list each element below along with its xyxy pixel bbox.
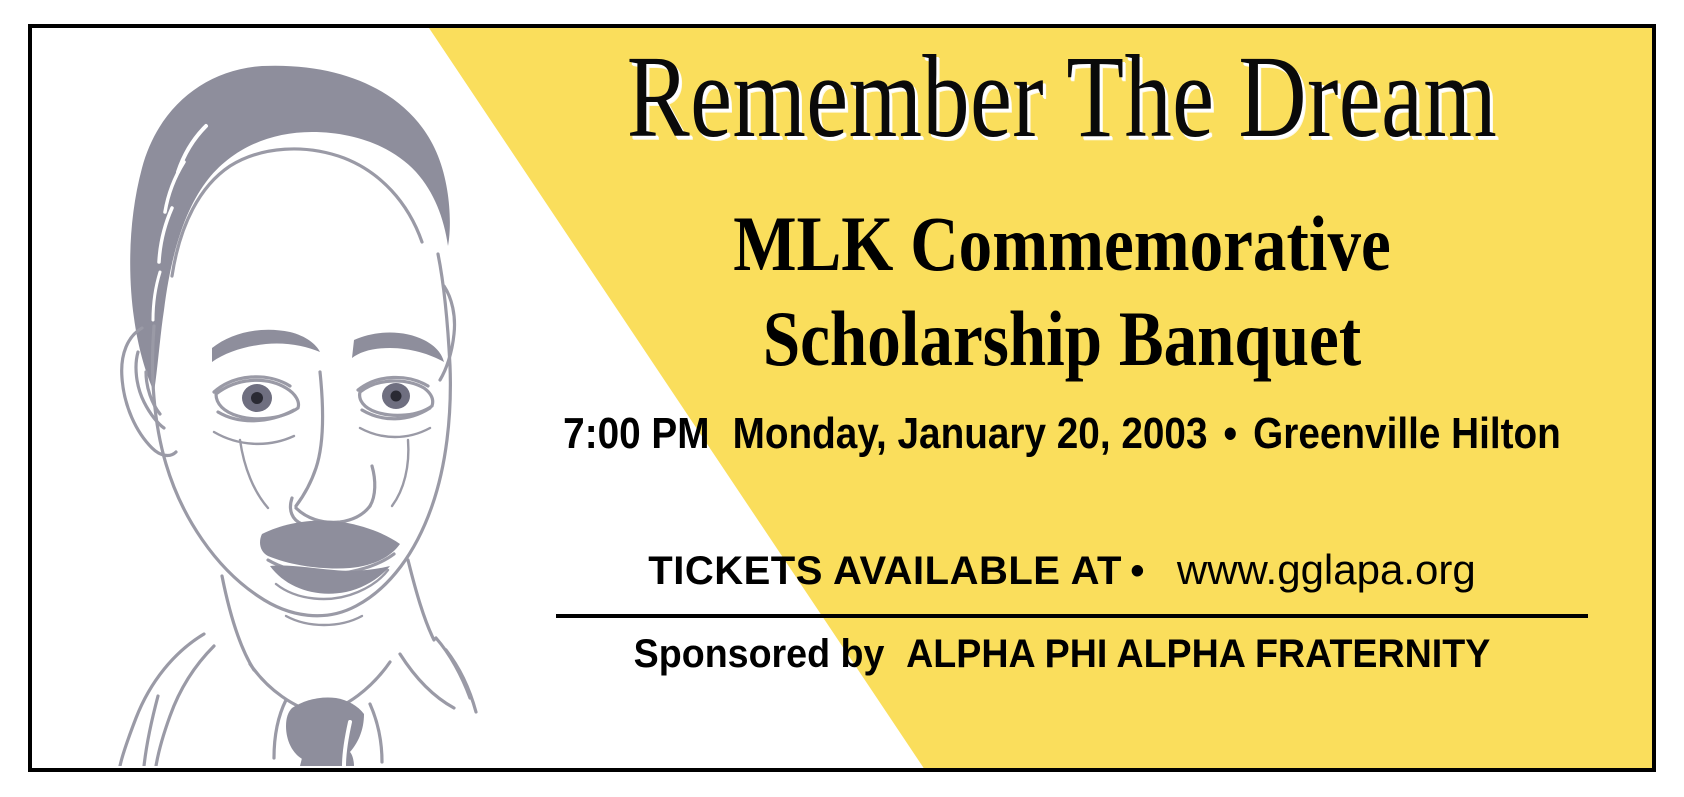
- sponsor-organization: ALPHA PHI ALPHA FRATERNITY: [895, 632, 1490, 676]
- event-time: 7:00 PM: [563, 409, 709, 458]
- horizontal-divider: [556, 614, 1588, 618]
- flyer-poster: Remember The Dream MLK Commemorative Sch…: [28, 24, 1656, 772]
- tickets-website-link[interactable]: www.gglapa.org: [1153, 546, 1476, 593]
- datetime-venue-bullet: •: [1218, 409, 1242, 458]
- event-subtitle-line-2: Scholarship Banquet: [555, 291, 1570, 386]
- tickets-available-label: TICKETS AVAILABLE AT: [648, 549, 1122, 593]
- event-date: Monday, January 20, 2003: [720, 409, 1207, 458]
- tickets-bullet-icon: •: [1126, 549, 1148, 593]
- page-title: Remember The Dream: [590, 38, 1534, 156]
- event-venue: Greenville Hilton: [1253, 409, 1561, 458]
- tickets-availability: TICKETS AVAILABLE AT • www.gglapa.org: [472, 546, 1652, 594]
- flyer-text-column: Remember The Dream MLK Commemorative Sch…: [472, 28, 1652, 772]
- mlk-portrait: [54, 36, 484, 766]
- event-subtitle-line-1: MLK Commemorative: [555, 196, 1570, 291]
- sponsor-line: Sponsored by ALPHA PHI ALPHA FRATERNITY: [507, 632, 1616, 677]
- event-subtitle: MLK Commemorative Scholarship Banquet: [555, 196, 1570, 386]
- event-datetime-venue: 7:00 PM Monday, January 20, 2003 • Green…: [543, 410, 1581, 458]
- sponsored-by-label: Sponsored by: [634, 632, 885, 676]
